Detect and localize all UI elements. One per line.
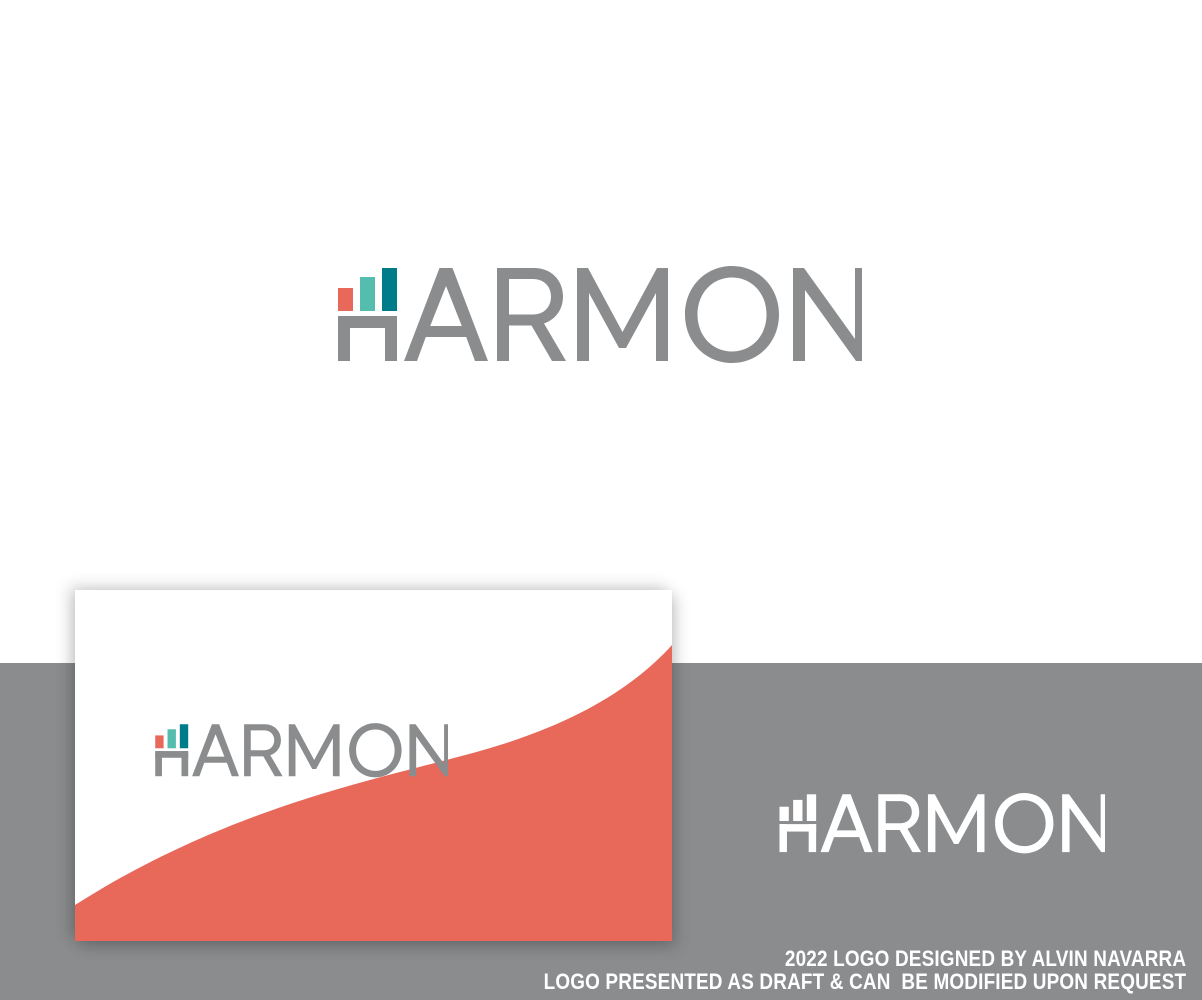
letter-m xyxy=(928,794,985,852)
reversed-logo-svg xyxy=(777,793,1105,854)
bar-mint-teal-icon xyxy=(360,277,375,311)
bar-mint-teal-icon xyxy=(793,800,802,821)
business-card-logo-svg xyxy=(153,723,448,778)
letter-a xyxy=(192,724,239,776)
letter-m xyxy=(577,268,668,361)
bar-coral-icon xyxy=(155,735,163,748)
primary-logo-svg xyxy=(334,266,862,364)
bar-mint-teal-icon xyxy=(168,729,176,748)
credit-line-draft-notice: LOGO PRESENTED AS DRAFT & CAN BE MODIFIE… xyxy=(543,970,1186,994)
letter-m xyxy=(289,724,340,776)
letter-o xyxy=(349,723,402,777)
bar-deep-teal-icon xyxy=(382,268,397,311)
footer-credits: 2022 LOGO DESIGNED BY ALVIN NAVARRA LOGO… xyxy=(439,947,1186,995)
letter-o xyxy=(685,266,779,363)
letter-o xyxy=(995,793,1053,853)
presentation-canvas: HARMONEE HARMONEE xyxy=(0,0,1202,1000)
letter-n xyxy=(409,724,448,776)
letter-n xyxy=(1062,794,1105,852)
letter-r xyxy=(497,268,566,361)
letter-a xyxy=(404,268,488,361)
bar-coral-icon xyxy=(779,807,788,821)
letter-h xyxy=(779,824,816,852)
credit-line-designer: 2022 LOGO DESIGNED BY ALVIN NAVARRA xyxy=(543,947,1186,971)
letter-h xyxy=(338,316,397,361)
letter-h xyxy=(155,751,188,776)
letter-r xyxy=(878,794,921,852)
letter-n xyxy=(793,268,862,361)
reversed-logo-lockup: HARMONEE xyxy=(777,793,1105,854)
letter-r xyxy=(244,724,283,776)
primary-logo-wordmark-text: HARMONEE xyxy=(862,266,863,267)
bar-deep-teal-icon xyxy=(807,794,816,821)
letter-a xyxy=(820,794,872,852)
bar-deep-teal-icon xyxy=(180,724,188,748)
primary-logo-lockup: HARMONEE xyxy=(334,266,862,364)
business-card-logo-lockup: HARMONEE xyxy=(153,723,448,778)
bar-coral-icon xyxy=(338,288,353,311)
